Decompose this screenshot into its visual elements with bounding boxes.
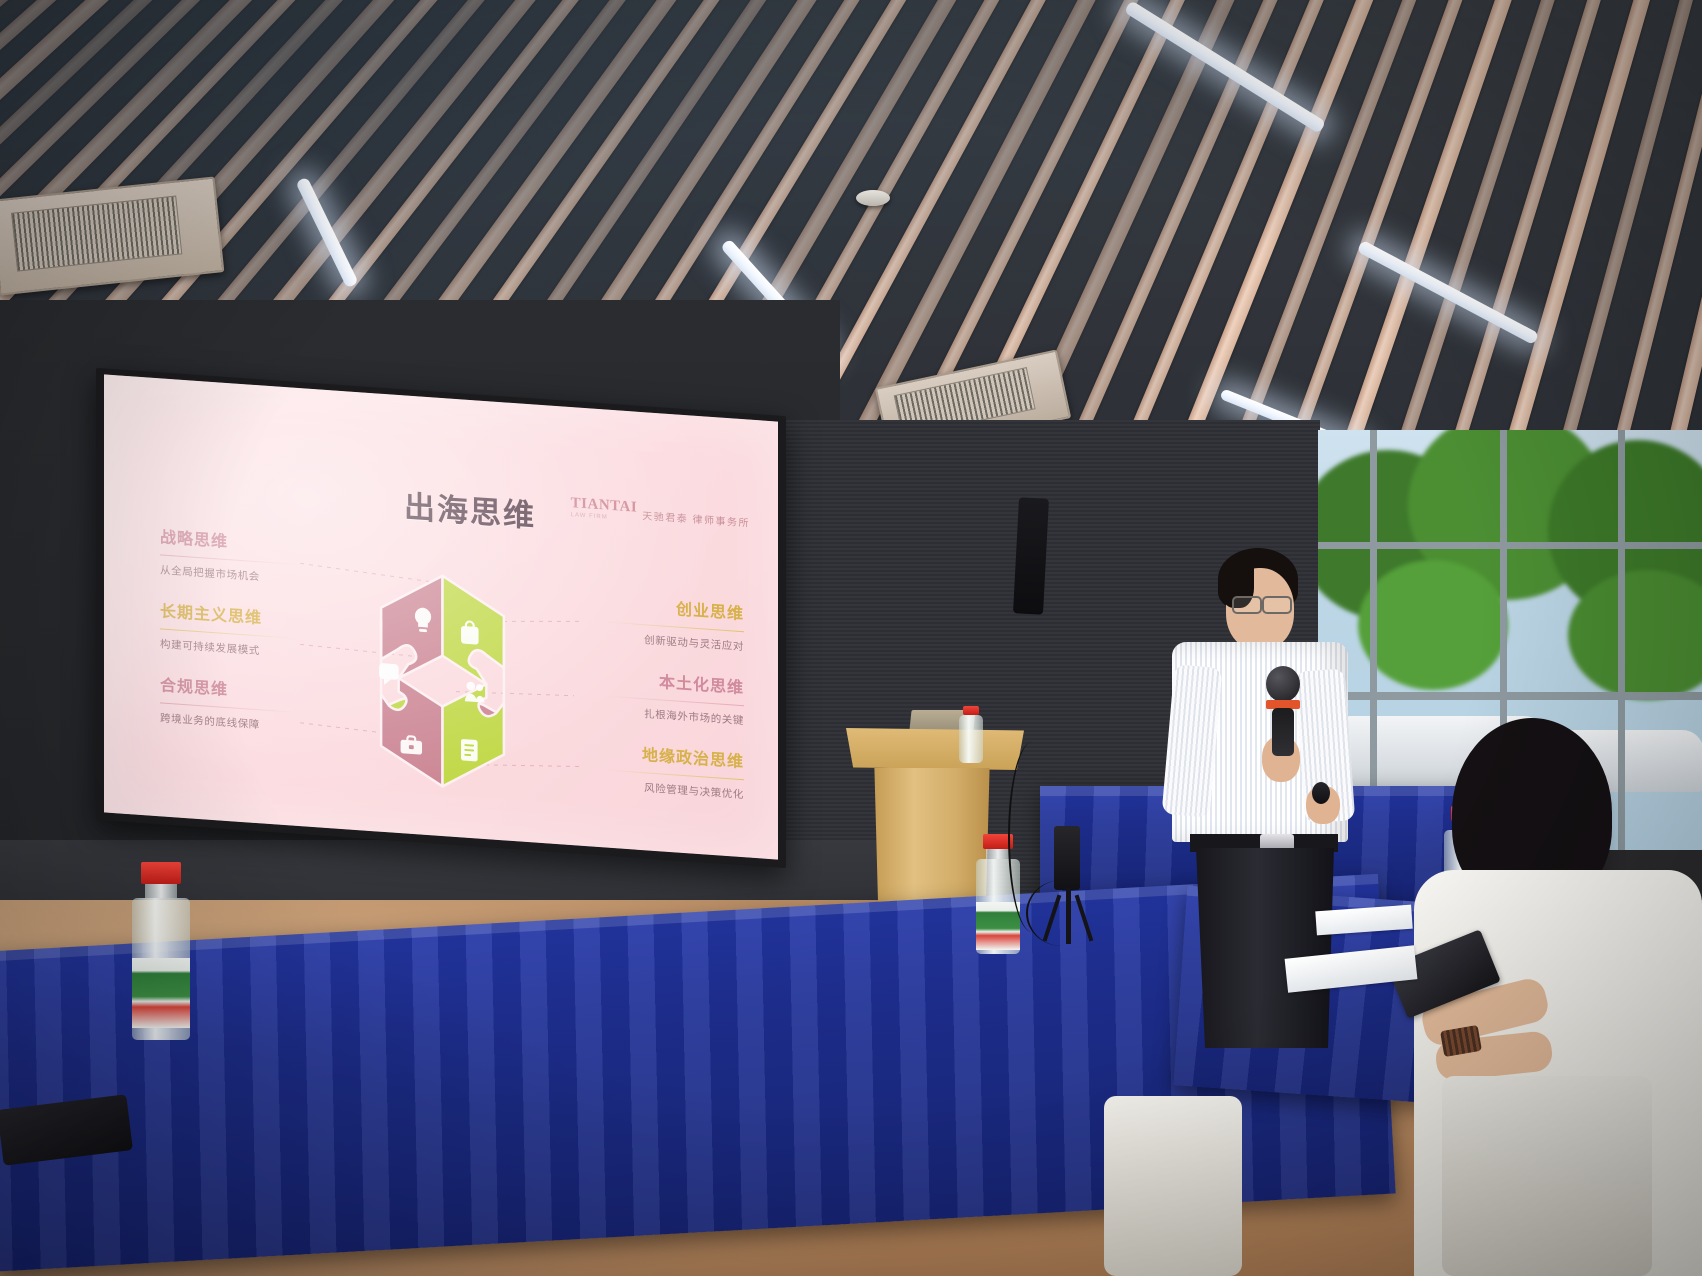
- puzzle-piece-bottom-left: [381, 677, 442, 787]
- bottle-neck: [145, 884, 177, 898]
- slide-item-strategy: 战略思维 从全局把握市场机会: [160, 528, 365, 591]
- vent-grille: [11, 195, 183, 271]
- window-mullion-h: [1318, 692, 1702, 700]
- microphone-body: [1272, 708, 1294, 756]
- eyeglasses: [1232, 596, 1262, 614]
- tree-foliage: [1358, 560, 1508, 690]
- slide-right-column: 创业思维 创新驱动与灵活应对 本土化思维 扎根海外市场的关键 地缘政治思维 风险…: [539, 591, 744, 827]
- screenshot-root: 出海思维 TIANTAI LAW FIRM 天驰君泰 律师事务所 战略思维 从全…: [0, 0, 1702, 1276]
- slide-item-entrepreneurship: 创业思维 创新驱动与灵活应对: [539, 591, 744, 654]
- logo-chinese-text: 天驰君泰 律师事务所: [642, 507, 750, 531]
- empty-chair[interactable]: [1104, 1096, 1242, 1276]
- eyeglasses: [1262, 596, 1292, 614]
- bottle-label: [976, 902, 1020, 950]
- podium-top: [846, 728, 1024, 770]
- bottle-cap: [963, 706, 979, 715]
- slide-item-localization: 本土化思维 扎根海外市场的关键: [539, 665, 744, 728]
- hexagon-puzzle-graphic: [340, 559, 545, 803]
- attendee-chair[interactable]: [1442, 1076, 1652, 1276]
- presenter-clicker: [1312, 782, 1330, 804]
- microphone-head: [1266, 666, 1300, 702]
- slide-item-geopolitics: 地缘政治思维 风险管理与决策优化: [539, 739, 744, 802]
- slide-item-longtermism: 长期主义思维 构建可持续发展模式: [160, 602, 365, 665]
- item-desc: 构建可持续发展模式: [160, 636, 365, 665]
- water-bottle[interactable]: [958, 706, 984, 764]
- power-cable: [1026, 880, 1098, 946]
- item-desc: 跨境业务的底线保障: [160, 710, 365, 739]
- slide: 出海思维 TIANTAI LAW FIRM 天驰君泰 律师事务所 战略思维 从全…: [104, 374, 778, 859]
- smoke-detector: [856, 190, 890, 206]
- slide-item-compliance: 合规思维 跨境业务的底线保障: [160, 676, 365, 739]
- firm-logo: TIANTAI LAW FIRM 天驰君泰 律师事务所: [571, 495, 750, 531]
- projection-screen: 出海思维 TIANTAI LAW FIRM 天驰君泰 律师事务所 战略思维 从全…: [104, 374, 778, 859]
- presenter-trousers: [1190, 848, 1340, 1048]
- water-bottle[interactable]: [130, 862, 192, 1040]
- bottle-cap: [141, 862, 181, 884]
- wall-speaker: [1013, 497, 1049, 614]
- bottle-body: [959, 715, 983, 763]
- bottle-label: [132, 958, 190, 1028]
- item-heading: 地缘政治思维: [539, 739, 744, 773]
- bottle-neck: [986, 849, 1010, 859]
- window-mullion-h: [1318, 542, 1702, 549]
- item-heading: 本土化思维: [539, 665, 744, 699]
- slide-title: 出海思维: [404, 481, 536, 535]
- document-icon: [461, 739, 478, 762]
